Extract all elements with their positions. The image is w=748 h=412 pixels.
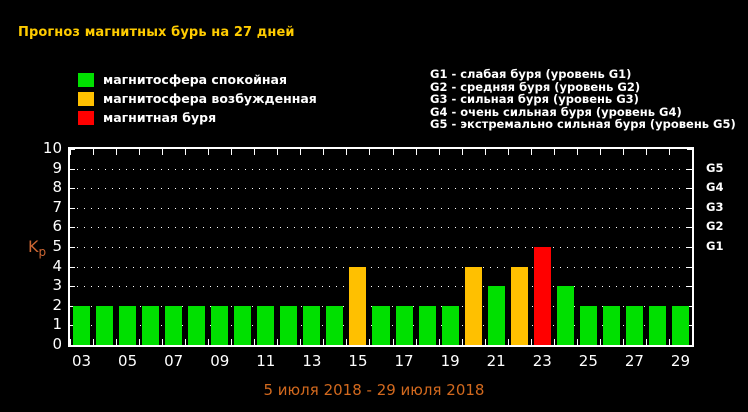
g-scale-label-G2: G2 bbox=[706, 221, 723, 233]
bar-day-13 bbox=[303, 306, 320, 345]
bar-day-28 bbox=[649, 306, 666, 345]
x-axis-tick-label-09: 09 bbox=[210, 352, 229, 370]
x-axis-tick-label-03: 03 bbox=[72, 352, 91, 370]
bar-day-23 bbox=[534, 247, 551, 345]
bar-day-22 bbox=[511, 267, 528, 345]
chart-bars bbox=[70, 149, 692, 345]
x-tick-top-27 bbox=[692, 149, 693, 155]
bar-day-26 bbox=[603, 306, 620, 345]
y-axis-title: Kp bbox=[28, 237, 46, 259]
x-tick-bottom-27 bbox=[692, 339, 693, 345]
legend-swatch-calm bbox=[78, 73, 94, 87]
bar-day-11 bbox=[257, 306, 274, 345]
legend-label-excited: магнитосфера возбужденная bbox=[103, 92, 317, 106]
bar-day-04 bbox=[96, 306, 113, 345]
x-axis-tick-label-11: 11 bbox=[256, 352, 275, 370]
legend-g3-description: G3 - сильная буря (уровень G3) bbox=[430, 93, 736, 106]
x-axis-tick-label-19: 19 bbox=[441, 352, 460, 370]
g-scale-label-G3: G3 bbox=[706, 202, 723, 214]
legend-item-storm: магнитная буря bbox=[78, 108, 317, 127]
x-axis-tick-label-07: 07 bbox=[164, 352, 183, 370]
bar-day-14 bbox=[326, 306, 343, 345]
legend-swatch-storm bbox=[78, 111, 94, 125]
date-range-caption: 5 июля 2018 - 29 июля 2018 bbox=[0, 381, 748, 399]
legend-swatch-excited bbox=[78, 92, 94, 106]
legend-g-scale: G1 - слабая буря (уровень G1) G2 - средн… bbox=[430, 68, 736, 131]
bar-day-19 bbox=[442, 306, 459, 345]
x-axis-tick-label-29: 29 bbox=[671, 352, 690, 370]
x-axis-tick-label-05: 05 bbox=[118, 352, 137, 370]
bar-day-10 bbox=[234, 306, 251, 345]
x-axis-tick-label-15: 15 bbox=[348, 352, 367, 370]
bar-day-06 bbox=[142, 306, 159, 345]
bar-day-24 bbox=[557, 286, 574, 345]
legend-magnetosphere: магнитосфера спокойная магнитосфера возб… bbox=[78, 70, 317, 127]
y-tick-left-0 bbox=[70, 345, 75, 346]
g-scale-label-G5: G5 bbox=[706, 163, 723, 175]
bar-day-21 bbox=[488, 286, 505, 345]
bar-day-07 bbox=[165, 306, 182, 345]
bar-day-20 bbox=[465, 267, 482, 345]
g-scale-label-G1: G1 bbox=[706, 241, 723, 253]
y-tick-right-0 bbox=[687, 345, 692, 346]
bar-day-25 bbox=[580, 306, 597, 345]
x-axis-tick-label-21: 21 bbox=[487, 352, 506, 370]
bar-day-05 bbox=[119, 306, 136, 345]
page-title: Прогноз магнитных бурь на 27 дней bbox=[18, 25, 295, 40]
x-axis-tick-label-25: 25 bbox=[579, 352, 598, 370]
bar-day-08 bbox=[188, 306, 205, 345]
bar-day-09 bbox=[211, 306, 228, 345]
bar-day-18 bbox=[419, 306, 436, 345]
legend-g5-description: G5 - экстремально сильная буря (уровень … bbox=[430, 118, 736, 131]
bar-day-27 bbox=[626, 306, 643, 345]
legend-label-calm: магнитосфера спокойная bbox=[103, 73, 287, 87]
legend-item-excited: магнитосфера возбужденная bbox=[78, 89, 317, 108]
bar-day-12 bbox=[280, 306, 297, 345]
x-axis-tick-label-17: 17 bbox=[394, 352, 413, 370]
x-axis-tick-label-27: 27 bbox=[625, 352, 644, 370]
x-axis-labels: 0305070911131517192123252729 bbox=[0, 352, 748, 374]
bar-day-16 bbox=[372, 306, 389, 345]
g-scale-label-G4: G4 bbox=[706, 182, 723, 194]
bar-day-29 bbox=[672, 306, 689, 345]
bar-day-17 bbox=[396, 306, 413, 345]
bar-day-03 bbox=[73, 306, 90, 345]
x-axis-tick-label-23: 23 bbox=[533, 352, 552, 370]
legend-item-calm: магнитосфера спокойная bbox=[78, 70, 317, 89]
x-axis-tick-label-13: 13 bbox=[302, 352, 321, 370]
legend-g1-description: G1 - слабая буря (уровень G1) bbox=[430, 68, 736, 81]
chart-plot-area bbox=[68, 147, 694, 347]
bar-day-15 bbox=[349, 267, 366, 345]
legend-label-storm: магнитная буря bbox=[103, 111, 216, 125]
